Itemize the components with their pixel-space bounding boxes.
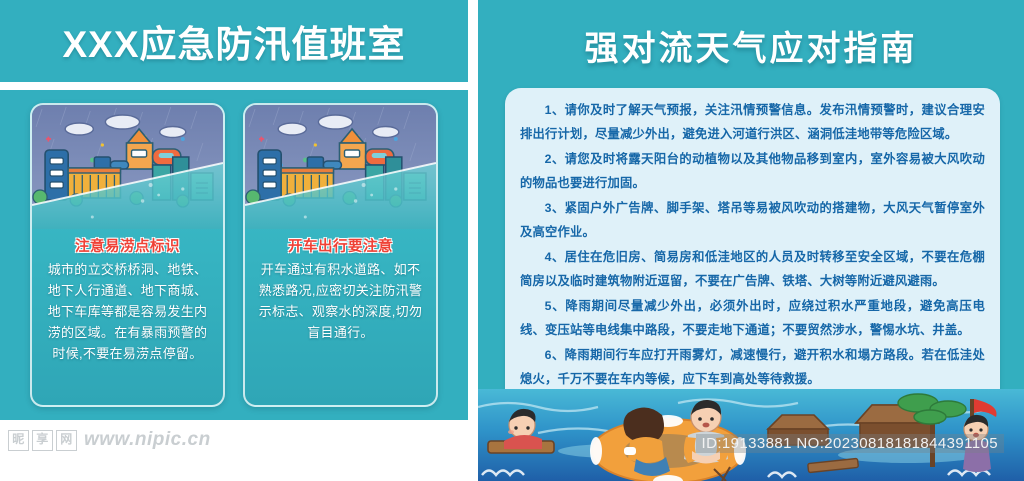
- right-panel: 强对流天气应对指南 1、请你及时了解天气预报，关注汛情预警信息。发布汛情预警时，…: [478, 0, 1024, 481]
- guideline-paragraph: 3、紧固户外广告牌、脚手架、塔吊等易被风吹动的搭建物，大风天气暂停室外及高空作业…: [520, 197, 985, 245]
- card-text: 城市的立交桥桥洞、地铁、地下人行通道、地下商城、地下车库等都是容易发生内涝的区域…: [32, 259, 223, 364]
- site-watermark: 昵 享 网 www.nipic.cn: [8, 429, 211, 451]
- card-heading: 注意易涝点标识: [32, 235, 223, 256]
- guideline-paragraph: 6、降雨期间行车应打开雨雾灯，减速慢行，避开积水和塌方路段。若在低洼处熄火，千万…: [520, 344, 985, 392]
- flood-city-illustration: [32, 105, 223, 229]
- logo-char: 网: [56, 430, 77, 451]
- info-card: 注意易涝点标识 城市的立交桥桥洞、地铁、地下人行通道、地下商城、地下车库等都是容…: [30, 103, 225, 407]
- flood-city-illustration-svg: [32, 105, 223, 229]
- site-watermark-url: www.nipic.cn: [84, 429, 211, 451]
- logo-char: 昵: [8, 430, 29, 451]
- left-panel-title: XXX应急防汛值班室: [0, 0, 468, 82]
- logo-char: 享: [32, 430, 53, 451]
- left-body-band: 注意易涝点标识 城市的立交桥桥洞、地铁、地下人行通道、地下商城、地下车库等都是容…: [0, 90, 468, 420]
- card-text: 开车通过有积水道路、如不熟悉路况,应密切关注防汛警示标志、观察水的深度,切勿盲目…: [245, 259, 436, 343]
- guideline-paragraph: 5、降雨期间尽量减少外出，必须外出时，应绕过积水严重地段，避免高压电线、变压站等…: [520, 295, 985, 343]
- bottom-white-strip: 昵 享 网 www.nipic.cn: [0, 429, 478, 455]
- flood-city-illustration: [245, 105, 436, 229]
- guidelines-box: 1、请你及时了解天气预报，关注汛情预警信息。发布汛情预警时，建议合理安排出行计划…: [505, 88, 1000, 406]
- guideline-paragraph: 4、居住在危旧房、简易房和低洼地区的人员及时转移至安全区域，不要在危棚简房以及临…: [520, 246, 985, 294]
- info-card: 开车出行要注意 开车通过有积水道路、如不熟悉路况,应密切关注防汛警示标志、观察水…: [243, 103, 438, 407]
- flood-city-illustration-svg: [245, 105, 436, 229]
- left-panel: XXX应急防汛值班室: [0, 0, 468, 455]
- card-heading: 开车出行要注意: [245, 235, 436, 256]
- left-header-band: XXX应急防汛值班室: [0, 0, 468, 82]
- id-watermark: ID:19133881 NO:20230818181844391105: [696, 434, 1004, 453]
- site-watermark-logo: 昵 享 网: [8, 430, 77, 451]
- guideline-paragraph: 2、请您及时将露天阳台的动植物以及其他物品移到室内，室外容易被大风吹动的物品也要…: [520, 148, 985, 196]
- guideline-paragraph: 1、请你及时了解天气预报，关注汛情预警信息。发布汛情预警时，建议合理安排出行计划…: [520, 99, 985, 147]
- card-list: 注意易涝点标识 城市的立交桥桥洞、地铁、地下人行通道、地下商城、地下车库等都是容…: [0, 90, 468, 420]
- poster-root: XXX应急防汛值班室: [0, 0, 1024, 481]
- right-panel-title: 强对流天气应对指南: [478, 18, 1024, 72]
